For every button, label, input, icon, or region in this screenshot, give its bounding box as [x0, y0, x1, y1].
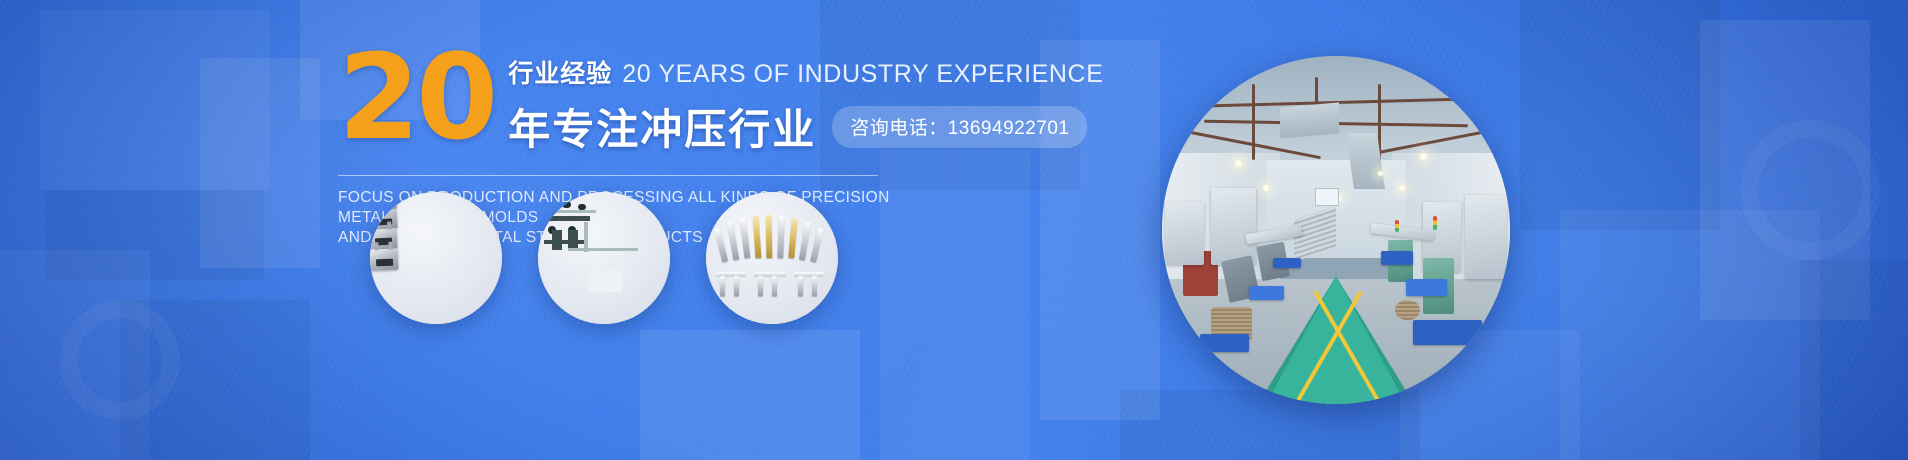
blue-pallet	[1249, 286, 1284, 300]
years-number: 20	[338, 44, 494, 150]
factory-photo-circle[interactable]	[1162, 56, 1510, 404]
mold-center-cavity	[588, 270, 622, 292]
usb-connector-icon	[370, 249, 398, 271]
cn-focus-label: 年专注冲压行业	[508, 96, 816, 157]
focus-line: 年专注冲压行业 咨询电话：13694922701	[508, 96, 1103, 157]
product-circle-terminal-pins[interactable]	[706, 192, 838, 324]
hero-banner: 20 行业经验 20 YEARS OF INDUSTRY EXPERIENCE …	[0, 0, 1908, 460]
phone-badge[interactable]: 咨询电话：13694922701	[832, 106, 1087, 148]
factory-back-wall	[1266, 160, 1405, 257]
machine-panel	[1211, 188, 1256, 265]
andon-signal-light	[1395, 220, 1399, 232]
terminal-pin	[798, 276, 803, 296]
en-experience-label: 20 YEARS OF INDUSTRY EXPERIENCE	[622, 60, 1103, 89]
headline-text-group: 行业经验 20 YEARS OF INDUSTRY EXPERIENCE 年专注…	[508, 40, 1103, 157]
headline-row: 20 行业经验 20 YEARS OF INDUSTRY EXPERIENCE …	[338, 40, 898, 157]
back-wall-window	[1315, 188, 1339, 205]
andon-signal-light	[1433, 216, 1437, 230]
experience-line: 行业经验 20 YEARS OF INDUSTRY EXPERIENCE	[508, 54, 1103, 90]
terminal-pin	[720, 276, 725, 296]
product-circle-usb-connectors[interactable]	[370, 192, 502, 324]
blue-pallet	[1200, 334, 1249, 351]
machine-panel	[1465, 195, 1507, 279]
blue-pallet	[1273, 258, 1301, 268]
terminal-pin-gold	[766, 215, 773, 258]
blue-pallet	[1406, 279, 1448, 296]
blue-pallet	[1413, 320, 1483, 344]
terminal-pin	[734, 276, 739, 296]
horizontal-divider	[338, 175, 878, 176]
blue-pallet	[1381, 251, 1412, 265]
ceiling-lamp	[1420, 153, 1427, 160]
green-aisle	[1266, 276, 1406, 404]
steel-coil	[1395, 300, 1419, 321]
mold-guide-rail	[568, 248, 638, 251]
ceiling-lamp	[1378, 171, 1383, 176]
cn-experience-label: 行业经验	[508, 54, 612, 90]
terminal-pin	[772, 276, 777, 296]
terminal-pin	[812, 276, 817, 296]
product-circle-stamping-mold[interactable]	[538, 192, 670, 324]
terminal-pin	[758, 276, 763, 296]
machine-panel	[1165, 202, 1203, 265]
ventilation-duct	[1280, 102, 1339, 138]
ceiling-lamp	[1263, 185, 1269, 191]
ceiling-lamp	[1399, 185, 1405, 191]
